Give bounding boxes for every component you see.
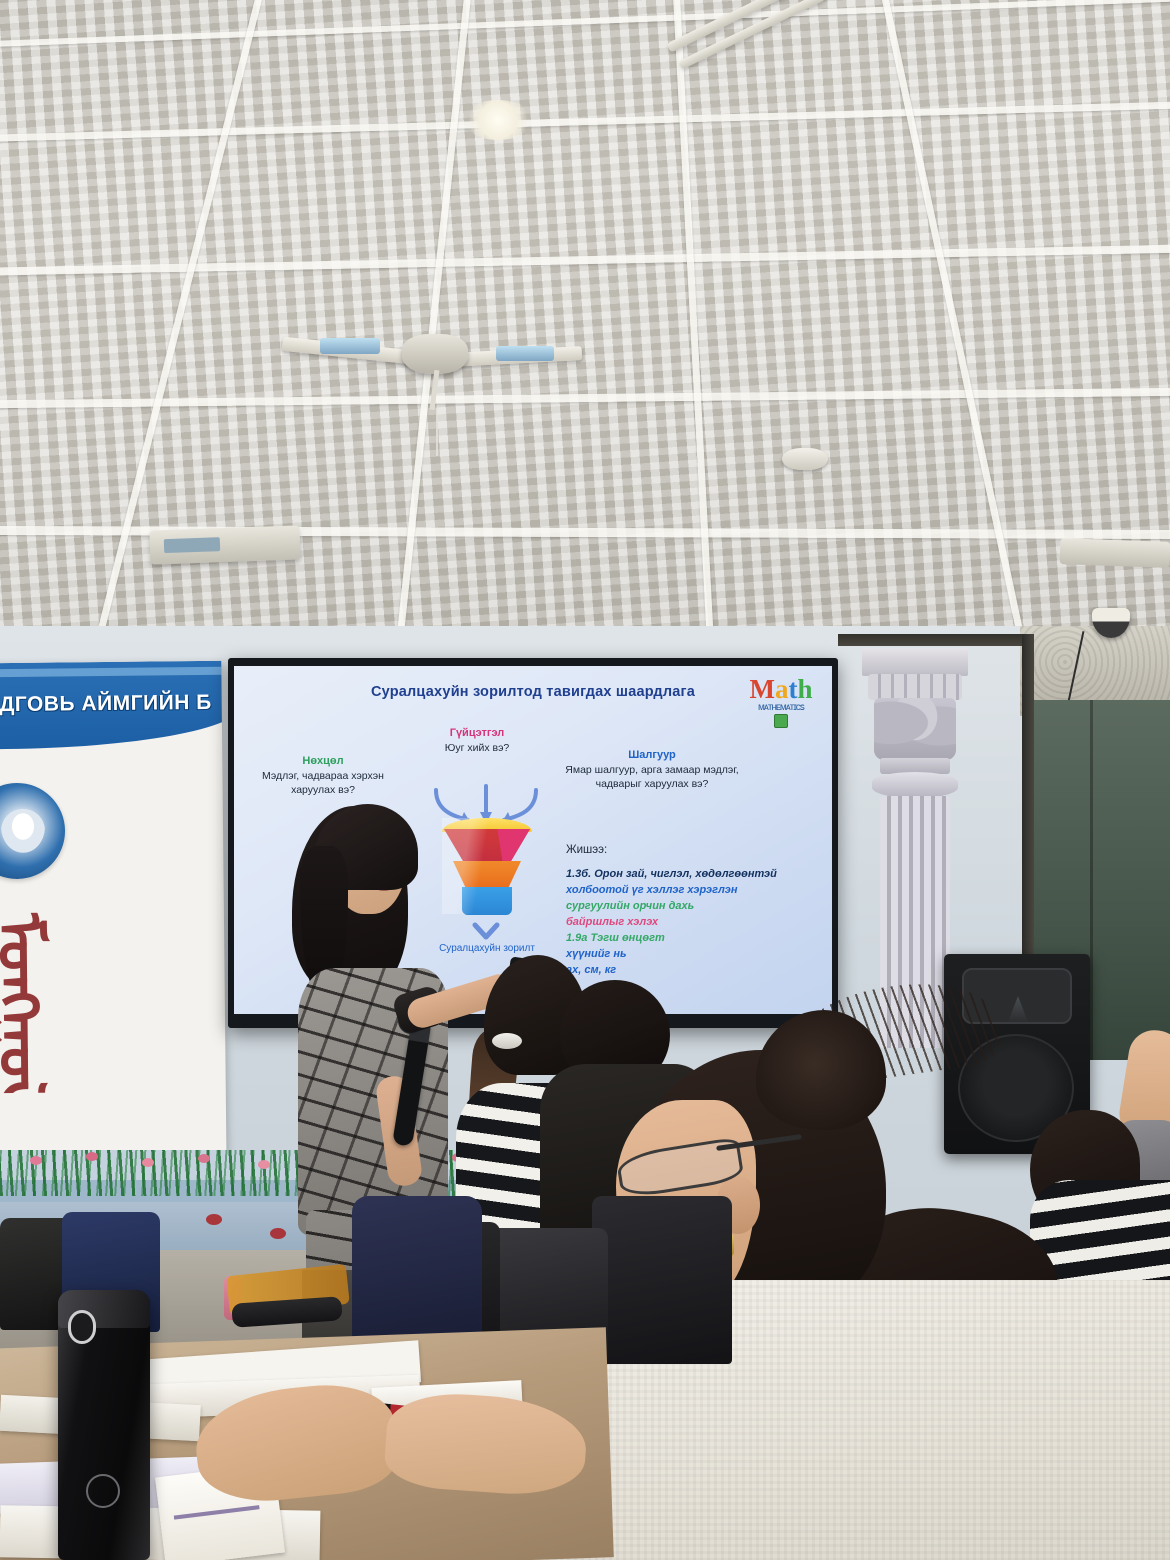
ceiling-fan: [282, 330, 612, 400]
logo-letter-a: a: [775, 674, 789, 704]
example-line-2: холбоотой үг хэллэг хэрэглэн: [566, 883, 822, 899]
logo-letter-h: h: [797, 674, 812, 704]
logo-letter-m: M: [749, 674, 774, 704]
book-icon: [774, 714, 788, 728]
label-nohtsol: Нөхцөл Мэдлэг, чадвараа хэрхэн харуулах …: [248, 754, 398, 797]
example-line-1: 1.3б. Орон зай, чиглэл, хөдөлгөөнтэй: [566, 867, 822, 883]
example-line-5: 1.9а Тэгш өнцөгт: [566, 931, 822, 947]
suspended-ceiling: [0, 0, 1170, 640]
example-heading: Жишээ:: [566, 844, 822, 856]
air-vent: [1060, 538, 1170, 568]
pull-chain: [436, 408, 438, 456]
label-shalguur: Шалгуур Ямар шалгуур, арга замаар мэдлэг…: [552, 748, 752, 791]
label-guitsetgel-heading: Гүйцэтгэл: [402, 726, 552, 740]
brand-logo-icon: [86, 1474, 120, 1508]
event-banner: НДГОВЬ АЙМГИЙН Б ᠮᠣᠩᠭᠣᠯ: [0, 661, 227, 1183]
label-shalguur-body: Ямар шалгуур, арга замаар мэдлэг, чадвар…: [552, 764, 752, 791]
label-nohtsol-heading: Нөхцөл: [248, 754, 398, 768]
example-line-4: байршлыг хэлэх: [566, 915, 822, 931]
mongolian-script-text: ᠮᠣᠩᠭᠣᠯ: [0, 912, 64, 1093]
banner-title: НДГОВЬ АЙМГИЙН Б: [0, 691, 227, 718]
photo-scene: НДГОВЬ АЙМГИЙН Б ᠮᠣᠩᠭᠣᠯ Суралцахуйн зори…: [0, 0, 1170, 1560]
chevron-down-icon: [472, 922, 500, 942]
air-vent: [149, 525, 300, 564]
recessed-light: [462, 100, 534, 140]
label-guitsetgel: Гүйцэтгэл Юуг хийх вэ?: [402, 726, 552, 756]
smoke-detector: [782, 448, 828, 470]
label-shalguur-heading: Шалгуур: [552, 748, 752, 762]
label-guitsetgel-body: Юуг хийх вэ?: [402, 742, 552, 755]
state-emblem-icon: [0, 782, 66, 879]
label-nohtsol-body: Мэдлэг, чадвараа хэрхэн харуулах вэ?: [248, 770, 398, 797]
example-line-3: сургуулийн орчин дахь: [566, 899, 822, 915]
flask-latch[interactable]: [68, 1310, 96, 1344]
math-logo: Math ᴍᴀᴛʜᴇᴍᴀᴛɪᴄꜱ: [738, 674, 824, 738]
thermos-flask[interactable]: [58, 1290, 150, 1560]
panel-frame: [838, 634, 1034, 646]
office-chair[interactable]: [592, 1196, 732, 1364]
